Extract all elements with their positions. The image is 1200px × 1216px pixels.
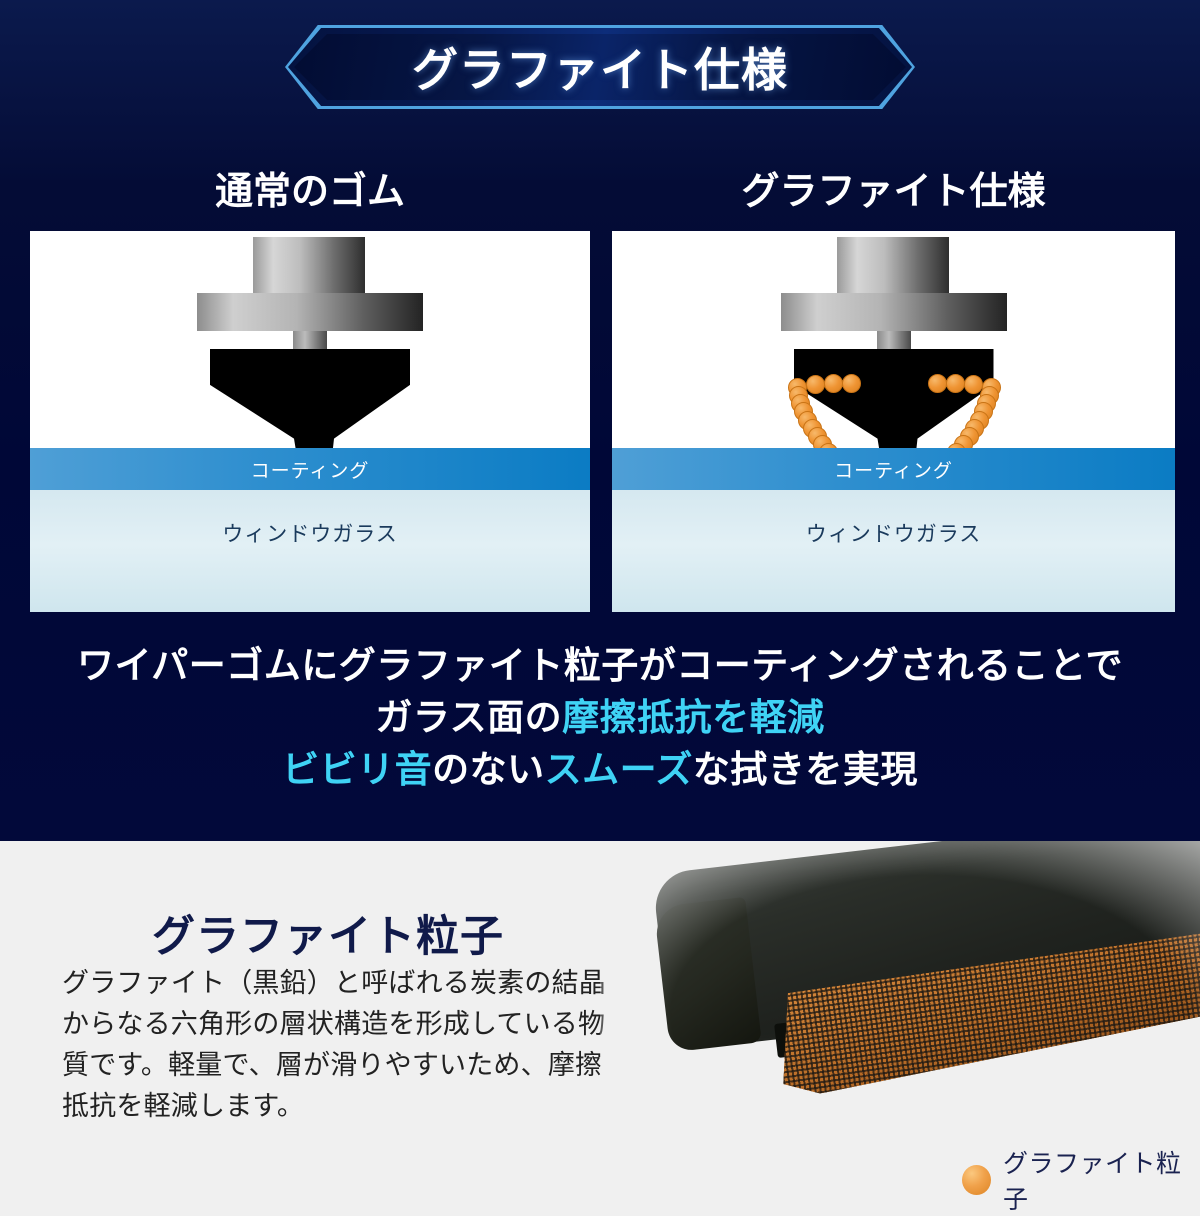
graphite-particle-icon: [946, 374, 965, 393]
graphite-particle-icon: [842, 374, 861, 393]
summary-line-3-plain-b: な拭きを実現: [693, 748, 918, 791]
section-body-graphite-particle: グラファイト（黒鉛）と呼ばれる炭素の結晶からなる六角形の層状構造を形成している物…: [62, 963, 628, 1127]
glass-layer-label-left: ウィンドウガラス: [30, 490, 590, 612]
bottom-graphite-legend: グラファイト粒子: [962, 1144, 1200, 1216]
wiper-holder-flange: [197, 293, 423, 331]
wiper-holder-top: [253, 237, 365, 293]
section-heading-graphite-particle: グラファイト粒子: [152, 902, 504, 964]
summary-text: ワイパーゴムにグラファイト粒子がコーティングされることで ガラス面の摩擦抵抗を軽…: [0, 640, 1200, 796]
wiper-holder-flange: [781, 293, 1007, 331]
graphite-particle-icon: [964, 375, 983, 394]
summary-line-2-plain: ガラス面の: [375, 696, 562, 739]
comparison-section: グラファイト仕様 通常のゴム グラファイト仕様 摩擦抵抗が大きい 摩擦でビビリ音…: [0, 0, 1200, 841]
graphite-particle-icon: [806, 375, 825, 394]
page-title: グラファイト仕様: [285, 25, 915, 109]
coating-layer-label-left: コーティング: [30, 448, 590, 490]
panel-heading-normal-rubber: 通常のゴム: [30, 158, 590, 216]
wiper-holder-top: [837, 237, 949, 293]
coating-layer-label-right: コーティング: [612, 448, 1175, 490]
summary-line-2: ガラス面の摩擦抵抗を軽減: [0, 692, 1200, 744]
diagram-panel-normal-rubber: 摩擦抵抗が大きい 摩擦でビビリ音 コーティング ウィンドウガラス: [30, 231, 590, 612]
panel-heading-graphite: グラファイト仕様: [612, 158, 1175, 216]
graphite-particle-icon: [928, 374, 947, 393]
summary-line-2-highlight: 摩擦抵抗を軽減: [562, 696, 825, 739]
diagram-panel-graphite: スムーズな動き 摩擦抵抗が少ない グラファイト粒子 コーティング ウィンドウガラ…: [612, 231, 1175, 612]
header-banner: グラファイト仕様: [285, 25, 915, 109]
summary-line-3-plain-a: のない: [432, 748, 545, 791]
wiper-blade-end-cap: [654, 897, 762, 1053]
summary-line-1: ワイパーゴムにグラファイト粒子がコーティングされることで: [0, 640, 1200, 692]
summary-line-3-highlight-b: スムーズ: [545, 748, 693, 791]
graphite-particle-icon: [824, 374, 843, 393]
summary-line-3: ビビリ音のないスムーズな拭きを実現: [0, 744, 1200, 796]
glass-layer-label-right: ウィンドウガラス: [612, 490, 1175, 612]
graphite-particle-icon: [962, 1165, 991, 1195]
summary-line-3-highlight-a: ビビリ音: [282, 748, 432, 791]
bottom-legend-label: グラファイト粒子: [1003, 1144, 1200, 1216]
